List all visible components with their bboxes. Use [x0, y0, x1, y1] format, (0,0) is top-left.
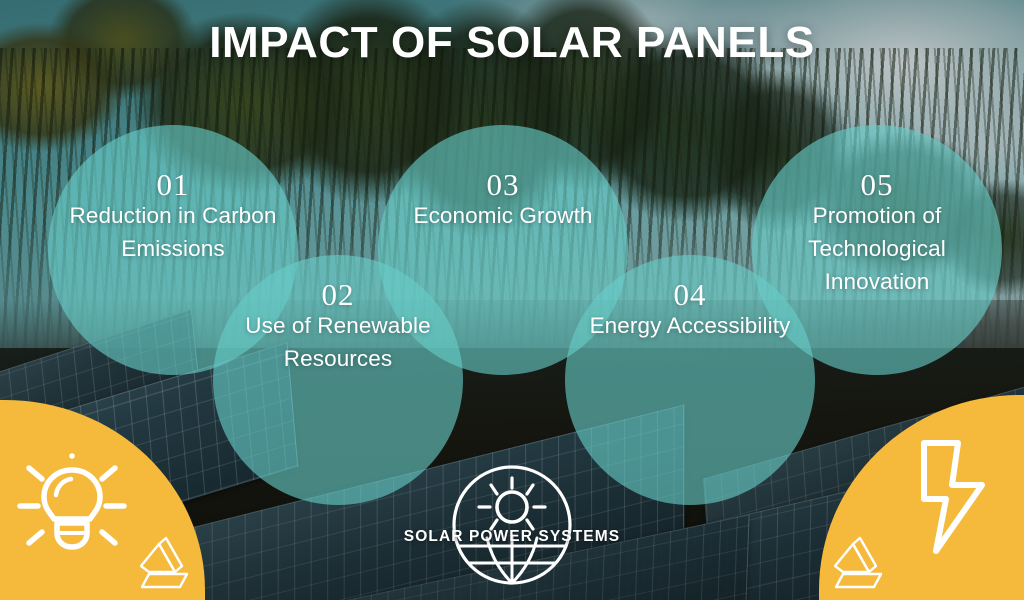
lightbulb-icon	[12, 448, 132, 558]
step-number: 03	[487, 169, 520, 200]
logo-text: SOLAR POWER SYSTEMS	[404, 528, 620, 546]
triangle-logo-icon	[135, 534, 197, 592]
page-title: IMPACT OF SOLAR PANELS	[0, 18, 1024, 68]
step-label: Economic Growth	[407, 200, 598, 233]
infographic-poster: IMPACT OF SOLAR PANELS 01 Reduction in C…	[0, 0, 1024, 600]
sun-globe-icon	[449, 462, 575, 588]
step-label: Reduction in Carbon Emissions	[48, 200, 298, 266]
step-number: 01	[157, 169, 190, 200]
step-label: Use of Renewable Resources	[213, 310, 463, 376]
lightning-bolt-icon	[906, 437, 996, 557]
step-number: 02	[322, 279, 355, 310]
step-circle-02: 02 Use of Renewable Resources	[213, 255, 463, 505]
step-label: Energy Accessibility	[576, 310, 805, 343]
step-number: 05	[861, 169, 894, 200]
step-number: 04	[674, 279, 707, 310]
step-label: Promotion of Technological Innovation	[752, 200, 1002, 299]
triangle-logo-icon	[829, 534, 891, 592]
step-circle-04: 04 Energy Accessibility	[565, 255, 815, 505]
